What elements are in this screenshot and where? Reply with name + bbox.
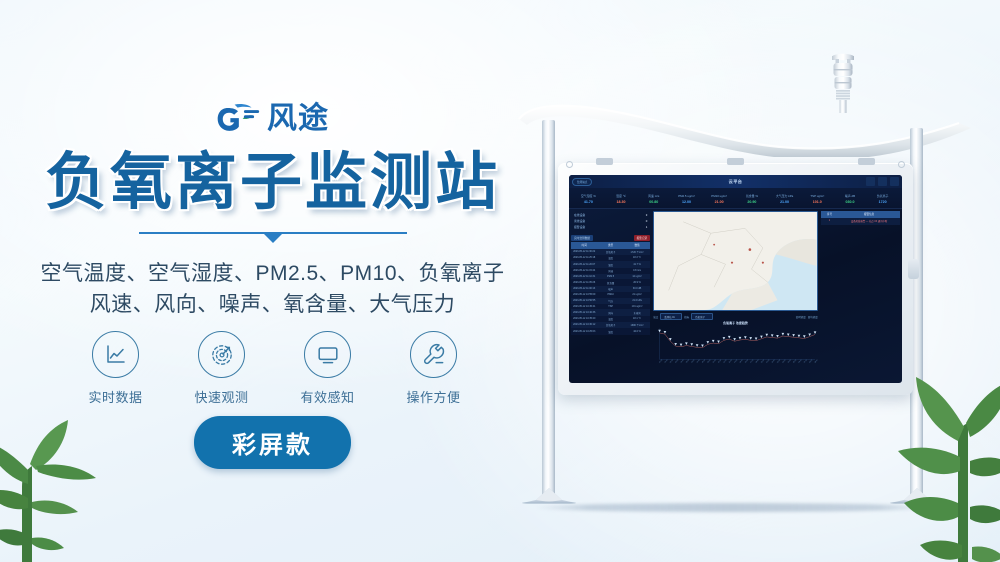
feature-label: 有效感知 <box>300 387 354 406</box>
svg-text:20:00: 20:00 <box>766 359 770 363</box>
metric-name: PM2.5 ug/m³ <box>678 194 695 198</box>
cta-container: 彩屏款 <box>0 416 545 469</box>
stat-value: 1 <box>646 225 648 229</box>
svg-text:19:00: 19:00 <box>761 359 765 363</box>
metric-tiles-row: 空气湿度 %41.70温度 ℃18.30风速 m/s00.80PM2.5 ug/… <box>569 188 902 209</box>
svg-text:22:00: 22:00 <box>777 359 781 363</box>
stat-line: 离线设备0 <box>574 219 647 223</box>
svg-text:08:00: 08:00 <box>702 359 706 363</box>
base-plate-right <box>890 488 944 504</box>
alert-column-header: 报警信息 <box>838 211 900 218</box>
svg-text:04:00: 04:00 <box>681 359 685 363</box>
svg-text:01:00: 01:00 <box>665 359 669 363</box>
metric-tile[interactable]: PM2.5 ug/m³12.00 <box>670 190 703 208</box>
page-title: 负氧离子监测站 <box>0 150 545 215</box>
svg-text:18:00: 18:00 <box>756 359 760 363</box>
line-chart-icon <box>92 331 139 378</box>
metric-value: 21.00 <box>780 200 789 204</box>
stat-line: 在线设备3 <box>574 213 647 217</box>
metric-tile[interactable]: 大气压力 kPa21.00 <box>768 190 801 208</box>
svg-text:11:00: 11:00 <box>718 359 722 363</box>
trend-line-chart: 00:0001:0002:0003:0004:0005:0006:0007:00… <box>653 326 818 368</box>
mount-bracket <box>727 158 744 165</box>
poster-canvas: 风途 负氧离子监测站 空气温度、空气湿度、PM2.5、PM10、负氧离子 风速、… <box>0 0 1000 562</box>
monitoring-station-device: 监测站点 云平台 空气湿度 %41.70温度 ℃18.30风速 m/s00.80… <box>495 0 1000 562</box>
svg-text:23:00: 23:00 <box>782 359 786 363</box>
metric-tile[interactable]: 噪声 dB030.0 <box>834 190 867 208</box>
dashboard-screen[interactable]: 监测站点 云平台 空气湿度 %41.70温度 ℃18.30风速 m/s00.80… <box>569 175 902 383</box>
svg-text:00:00: 00:00 <box>659 359 663 363</box>
station-selector-pill[interactable]: 监测站点 <box>572 178 592 186</box>
metric-tile[interactable]: 氧含量 %20.90 <box>736 190 769 208</box>
feature-subtitle: 空气温度、空气湿度、PM2.5、PM10、负氧离子 风速、风向、噪声、氧含量、大… <box>0 258 545 320</box>
svg-text:21:00: 21:00 <box>772 359 776 363</box>
chart-title: 负氧离子 浓度趋势 <box>653 321 818 325</box>
dashboard-title: 云平台 <box>729 179 743 185</box>
dashboard-body: 在线设备3离线设备0报警设备1 实时监测数据 报警记录 时间类型数值 2023-… <box>569 209 902 383</box>
dashboard-header: 监测站点 云平台 <box>569 175 902 188</box>
feature-label: 快速观测 <box>194 387 248 406</box>
bezel-hole <box>566 161 573 168</box>
table-column-header: 时间 <box>571 242 597 249</box>
metric-value: 41.70 <box>584 200 593 204</box>
subtitle-line-2: 风速、风向、噪声、氧含量、大气压力 <box>0 289 545 320</box>
svg-text:10:00: 10:00 <box>713 359 717 363</box>
feature-list: 实时数据 快速观测 <box>0 331 545 406</box>
metric-value: 18.30 <box>617 200 626 204</box>
device-stats: 在线设备3离线设备0报警设备1 <box>571 211 650 233</box>
metric-tile[interactable]: PM10 ug/m³21.00 <box>703 190 736 208</box>
metric-name: 温度 ℃ <box>616 194 626 198</box>
table-row[interactable]: 2023-05-12 10:25:03湿度42.0 % <box>571 328 650 334</box>
chart-control-label-1: 站点 <box>653 315 658 319</box>
hero-text-panel: 风途 负氧离子监测站 空气温度、空气湿度、PM2.5、PM10、负氧离子 风速、… <box>0 0 545 562</box>
stat-line: 报警设备1 <box>574 225 647 229</box>
china-map-panel[interactable] <box>653 211 818 311</box>
bezel-hole <box>898 161 905 168</box>
svg-text:03:00: 03:00 <box>675 359 679 363</box>
svg-text:28:00: 28:00 <box>809 359 813 363</box>
metric-tile[interactable]: 负氧离子1720 <box>866 190 899 208</box>
alert-cell: 设备离线报警 — 站点 03 通讯中断 <box>838 218 900 225</box>
stat-label: 离线设备 <box>574 219 585 223</box>
svg-text:27:00: 27:00 <box>804 359 808 363</box>
chart-legend-1: 实时浓度 <box>796 315 806 319</box>
svg-text:29:00: 29:00 <box>815 359 818 363</box>
svg-text:05:00: 05:00 <box>686 359 690 363</box>
metric-name: PM10 ug/m³ <box>711 194 727 198</box>
feature-item-realtime-data[interactable]: 实时数据 <box>79 331 153 406</box>
chart-legend-2: 日均浓度 <box>808 315 818 319</box>
metric-name: 空气湿度 % <box>581 194 596 198</box>
svg-text:24:00: 24:00 <box>788 359 792 363</box>
svg-text:12:00: 12:00 <box>723 359 727 363</box>
svg-text:16:00: 16:00 <box>745 359 749 363</box>
metric-name: 氧含量 % <box>746 194 758 198</box>
feature-item-effective-sensing[interactable]: 有效感知 <box>291 331 365 406</box>
clock-widget-icon <box>878 177 887 186</box>
leaf-g-logo-icon <box>216 101 260 137</box>
table-tag-alert[interactable]: 报警记录 <box>634 235 651 241</box>
stat-label: 在线设备 <box>574 213 585 217</box>
dashboard-left-column: 在线设备3离线设备0报警设备1 实时监测数据 报警记录 时间类型数值 2023-… <box>569 209 652 383</box>
base-plate-left <box>522 488 576 504</box>
chart-controls: 站点 监测站 01 指标 负氧离子 实时浓度 日均浓度 <box>653 313 818 320</box>
metric-tile[interactable]: TSP ug/m³101.0 <box>801 190 834 208</box>
metric-value: 12.00 <box>682 200 691 204</box>
table-column-header: 类型 <box>597 242 623 249</box>
metric-name: 噪声 dB <box>845 194 855 198</box>
table-column-header: 数值 <box>624 242 650 249</box>
dashboard-right-column: 序号报警信息 1设备离线报警 — 站点 03 通讯中断 <box>819 209 902 383</box>
feature-item-easy-operation[interactable]: 操作方便 <box>397 331 471 406</box>
metric-tile[interactable]: 风速 m/s00.80 <box>637 190 670 208</box>
side-knob[interactable] <box>908 259 919 279</box>
svg-text:13:00: 13:00 <box>729 359 733 363</box>
mount-bracket <box>596 158 613 165</box>
ground-shadow <box>533 503 933 512</box>
alert-cell: 1 <box>821 218 838 225</box>
metric-name: 负氧离子 <box>877 194 889 198</box>
metric-value: 101.0 <box>813 200 822 204</box>
title-divider <box>0 232 545 234</box>
monitor-screen-icon <box>304 331 351 378</box>
metric-name: 大气压力 kPa <box>776 194 793 198</box>
data-table-body[interactable]: 2023-05-12 11:30:22负氧离子1720 个/cm³2023-05… <box>571 249 650 335</box>
chart-control-label-2: 指标 <box>684 315 689 319</box>
feature-item-fast-observation[interactable]: 快速观测 <box>185 331 259 406</box>
alert-row[interactable]: 1设备离线报警 — 站点 03 通讯中断 <box>821 218 900 225</box>
svg-text:26:00: 26:00 <box>799 359 803 363</box>
feature-label: 操作方便 <box>406 387 460 406</box>
stat-value: 3 <box>646 213 648 217</box>
trend-chart-panel[interactable]: 站点 监测站 01 指标 负氧离子 实时浓度 日均浓度 负氧离子 浓度趋势 00… <box>653 313 818 381</box>
radar-signal-icon <box>198 331 245 378</box>
chart-metric-select[interactable]: 负氧离子 <box>691 313 713 320</box>
table-cell: 2023-05-12 10:25:03 <box>571 328 597 334</box>
weather-widget-icon <box>866 177 875 186</box>
stat-value: 0 <box>646 219 648 223</box>
svg-text:14:00: 14:00 <box>734 359 738 363</box>
metric-value: 00.80 <box>649 200 658 204</box>
map-graphic <box>654 212 817 310</box>
chart-station-select[interactable]: 监测站 01 <box>660 313 682 320</box>
metric-tile[interactable]: 温度 ℃18.30 <box>605 190 638 208</box>
metric-value: 030.0 <box>845 200 854 204</box>
brand-logo: 风途 <box>0 101 545 137</box>
feature-label: 实时数据 <box>88 387 142 406</box>
alert-table-header: 序号报警信息 <box>821 211 900 218</box>
dashboard-center-column: 站点 监测站 01 指标 负氧离子 实时浓度 日均浓度 负氧离子 浓度趋势 00… <box>652 209 819 383</box>
stat-label: 报警设备 <box>574 225 585 229</box>
brand-name: 风途 <box>267 104 329 134</box>
svg-text:17:00: 17:00 <box>750 359 754 363</box>
alert-column-header: 序号 <box>821 211 838 218</box>
divider-triangle-icon <box>264 234 282 243</box>
metric-value: 20.90 <box>747 200 756 204</box>
display-screen-frame: 监测站点 云平台 空气湿度 %41.70温度 ℃18.30风速 m/s00.80… <box>558 163 913 395</box>
support-pole-left <box>542 120 555 496</box>
color-screen-model-button[interactable]: 彩屏款 <box>194 416 351 469</box>
table-cell: 42.0 % <box>624 328 650 334</box>
svg-text:07:00: 07:00 <box>697 359 701 363</box>
station-canopy <box>515 95 975 157</box>
subtitle-line-1: 空气温度、空气湿度、PM2.5、PM10、负氧离子 <box>0 258 545 289</box>
wrench-tool-icon <box>410 331 457 378</box>
svg-text:15:00: 15:00 <box>740 359 744 363</box>
metric-value: 1720 <box>879 200 887 204</box>
alert-table-body[interactable]: 1设备离线报警 — 站点 03 通讯中断 <box>821 218 900 225</box>
user-widget-icon <box>890 177 899 186</box>
header-widgets <box>866 177 899 186</box>
table-toolbar: 实时监测数据 报警记录 <box>571 235 650 241</box>
table-cell: 湿度 <box>597 328 623 334</box>
mount-bracket <box>858 158 875 165</box>
metric-name: 风速 m/s <box>648 194 659 198</box>
svg-text:06:00: 06:00 <box>691 359 695 363</box>
table-tag-realtime[interactable]: 实时监测数据 <box>571 235 593 241</box>
svg-text:09:00: 09:00 <box>707 359 711 363</box>
svg-text:25:00: 25:00 <box>793 359 797 363</box>
metric-tile[interactable]: 空气湿度 %41.70 <box>572 190 605 208</box>
data-table-header: 时间类型数值 <box>571 242 650 249</box>
svg-text:02:00: 02:00 <box>670 359 674 363</box>
metric-name: TSP ug/m³ <box>810 194 824 198</box>
metric-value: 21.00 <box>715 200 724 204</box>
